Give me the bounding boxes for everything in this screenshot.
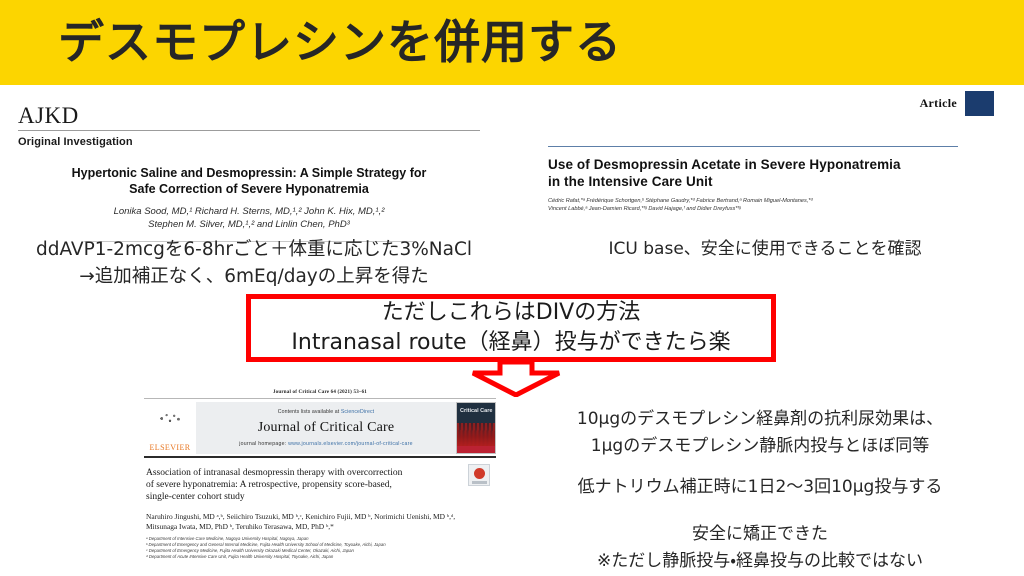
icu-title-line1: Use of Desmopressin Acetate in Severe Hy…	[548, 156, 958, 173]
jcc-contents-line: Contents lists available at ScienceDirec…	[278, 409, 374, 415]
paper-icu: Use of Desmopressin Acetate in Severe Hy…	[548, 146, 958, 214]
page-title: デスモプレシンを併用する	[58, 8, 622, 76]
title-banner: デスモプレシンを併用する	[0, 0, 1024, 85]
elsevier-wordmark: ELSEVIER	[150, 443, 191, 452]
red-highlight-box: ただしこれらはDIVの方法 Intranasal route（経鼻）投与ができた…	[246, 294, 776, 362]
ajkd-authors: Lonika Sood, MD,¹ Richard H. Sterns, MD,…	[18, 205, 480, 231]
jcc-cover-title: Critical Care	[460, 408, 493, 414]
icu-top-rule	[548, 146, 958, 147]
jcc-journal-name: Journal of Critical Care	[258, 420, 395, 436]
caption-left-line2: →追加補正なく、6mEq/dayの上昇を得た	[14, 263, 494, 290]
jcc-article-title: Association of intranasal desmopressin t…	[146, 467, 446, 503]
jcc-homepage-prefix: journal homepage:	[239, 441, 288, 447]
article-badge-label: Article	[920, 96, 957, 111]
elsevier-tree-icon	[149, 409, 191, 443]
jcc-cover-thumbnail: Critical Care	[456, 402, 496, 454]
sciencedirect-link[interactable]: ScienceDirect	[341, 409, 374, 415]
jcc-homepage-url[interactable]: www.journals.elsevier.com/journal-of-cri…	[288, 441, 413, 447]
jcc-cover-artwork	[457, 423, 495, 446]
ajkd-kicker: Original Investigation	[18, 136, 480, 148]
slide-root: デスモプレシンを併用する Article AJKD Original Inves…	[0, 0, 1024, 576]
caption-right-top: ICU base、安全に使用できることを確認	[530, 236, 1000, 262]
caption-equivalence: 10μgのデスモプレシン経鼻剤の抗利尿効果は、 1μgのデスモプレシン静脈内投与…	[515, 406, 1005, 460]
caption-left-line1: ddAVP1-2mcgを6-8hrごと＋体重に応じた3%NaCl	[14, 236, 494, 263]
ajkd-masthead-rule	[18, 130, 480, 131]
ajkd-masthead: AJKD	[18, 104, 480, 128]
caption-right-top-line1: ICU base、安全に使用できることを確認	[530, 236, 1000, 262]
icu-authors-line2: Vincent Labbé,ᵃ Jean-Damien Ricard,*ᶠᵍ D…	[548, 205, 958, 213]
crossmark-dot	[474, 468, 485, 479]
ajkd-title: Hypertonic Saline and Desmopressin: A Si…	[18, 165, 480, 197]
jcc-article-title-line1: Association of intranasal desmopressin t…	[146, 467, 446, 479]
jcc-article-title-line3: single-center cohort study	[146, 491, 446, 503]
ajkd-title-line1: Hypertonic Saline and Desmopressin: A Si…	[42, 165, 456, 181]
jcc-article-authors-line1: Naruhiro Jingushi, MD ᵃ,ᵇ, Seiichiro Tsu…	[146, 512, 491, 522]
jcc-article-title-line2: of severe hyponatremia: A retrospective,…	[146, 479, 446, 491]
jcc-article-authors: Naruhiro Jingushi, MD ᵃ,ᵇ, Seiichiro Tsu…	[146, 512, 491, 532]
jcc-affiliation-4: ᵈ Department of Acute Intensive Care Uni…	[146, 554, 491, 560]
jcc-article-authors-line2: Mitsunaga Iwata, MD, PhD ᵇ, Teruhiko Ter…	[146, 522, 491, 532]
paper-jcc: Journal of Critical Care 64 (2021) 53–61…	[144, 390, 496, 562]
red-box-line1: ただしこれらはDIVの方法	[382, 298, 640, 328]
paper-ajkd: AJKD Original Investigation Hypertonic S…	[18, 104, 480, 242]
ajkd-authors-line1: Lonika Sood, MD,¹ Richard H. Sterns, MD,…	[38, 205, 460, 218]
caption-safety: 安全に矯正できた ※ただし静脈投与・経鼻投与の比較ではない	[515, 521, 1005, 575]
jcc-contents-prefix: Contents lists available at	[278, 409, 341, 415]
icu-authors-line1: Cédric Rafat,*ᵃ Frédérique Schortgen,ᵇ S…	[548, 197, 958, 205]
caption-dose-line1: 低ナトリウム補正時に1日2〜3回10μg投与する	[515, 474, 1005, 501]
caption-equivalence-line2: 1μgのデスモプレシン静脈内投与とほぼ同等	[515, 433, 1005, 460]
icu-title: Use of Desmopressin Acetate in Severe Hy…	[548, 156, 958, 190]
elsevier-logo: ELSEVIER	[144, 402, 196, 454]
caption-equivalence-line1: 10μgのデスモプレシン経鼻剤の抗利尿効果は、	[515, 406, 1005, 433]
article-badge: Article	[920, 91, 994, 116]
crossmark-icon	[468, 464, 490, 486]
red-box-line2: Intranasal route（経鼻）投与ができたら楽	[291, 328, 730, 358]
caption-left: ddAVP1-2mcgを6-8hrごと＋体重に応じた3%NaCl →追加補正なく…	[14, 236, 494, 290]
jcc-cover-footer-band	[457, 446, 495, 453]
crossmark-bar	[472, 481, 487, 484]
ajkd-authors-line2: Stephen M. Silver, MD,¹,² and Linlin Che…	[38, 218, 460, 231]
caption-dose: 低ナトリウム補正時に1日2〜3回10μg投与する	[515, 474, 1005, 501]
jcc-title-band: Contents lists available at ScienceDirec…	[196, 402, 456, 454]
jcc-masthead: ELSEVIER Contents lists available at Sci…	[144, 402, 496, 454]
jcc-citation: Journal of Critical Care 64 (2021) 53–61	[144, 390, 496, 395]
ajkd-title-line2: Safe Correction of Severe Hyponatremia	[42, 181, 456, 197]
jcc-article-block: Association of intranasal desmopressin t…	[144, 458, 496, 562]
icu-authors: Cédric Rafat,*ᵃ Frédérique Schortgen,ᵇ S…	[548, 197, 958, 214]
icu-title-line2: in the Intensive Care Unit	[548, 173, 958, 190]
jcc-homepage-line: journal homepage: www.journals.elsevier.…	[239, 441, 413, 447]
jcc-top-rule	[144, 398, 496, 399]
jcc-affiliations: ᵃ Department of Intensive Care Medicine,…	[146, 536, 491, 560]
caption-safety-line2: ※ただし静脈投与・経鼻投与の比較ではない	[515, 548, 1005, 575]
blue-square-icon	[965, 91, 994, 116]
caption-safety-line1: 安全に矯正できた	[515, 521, 1005, 548]
